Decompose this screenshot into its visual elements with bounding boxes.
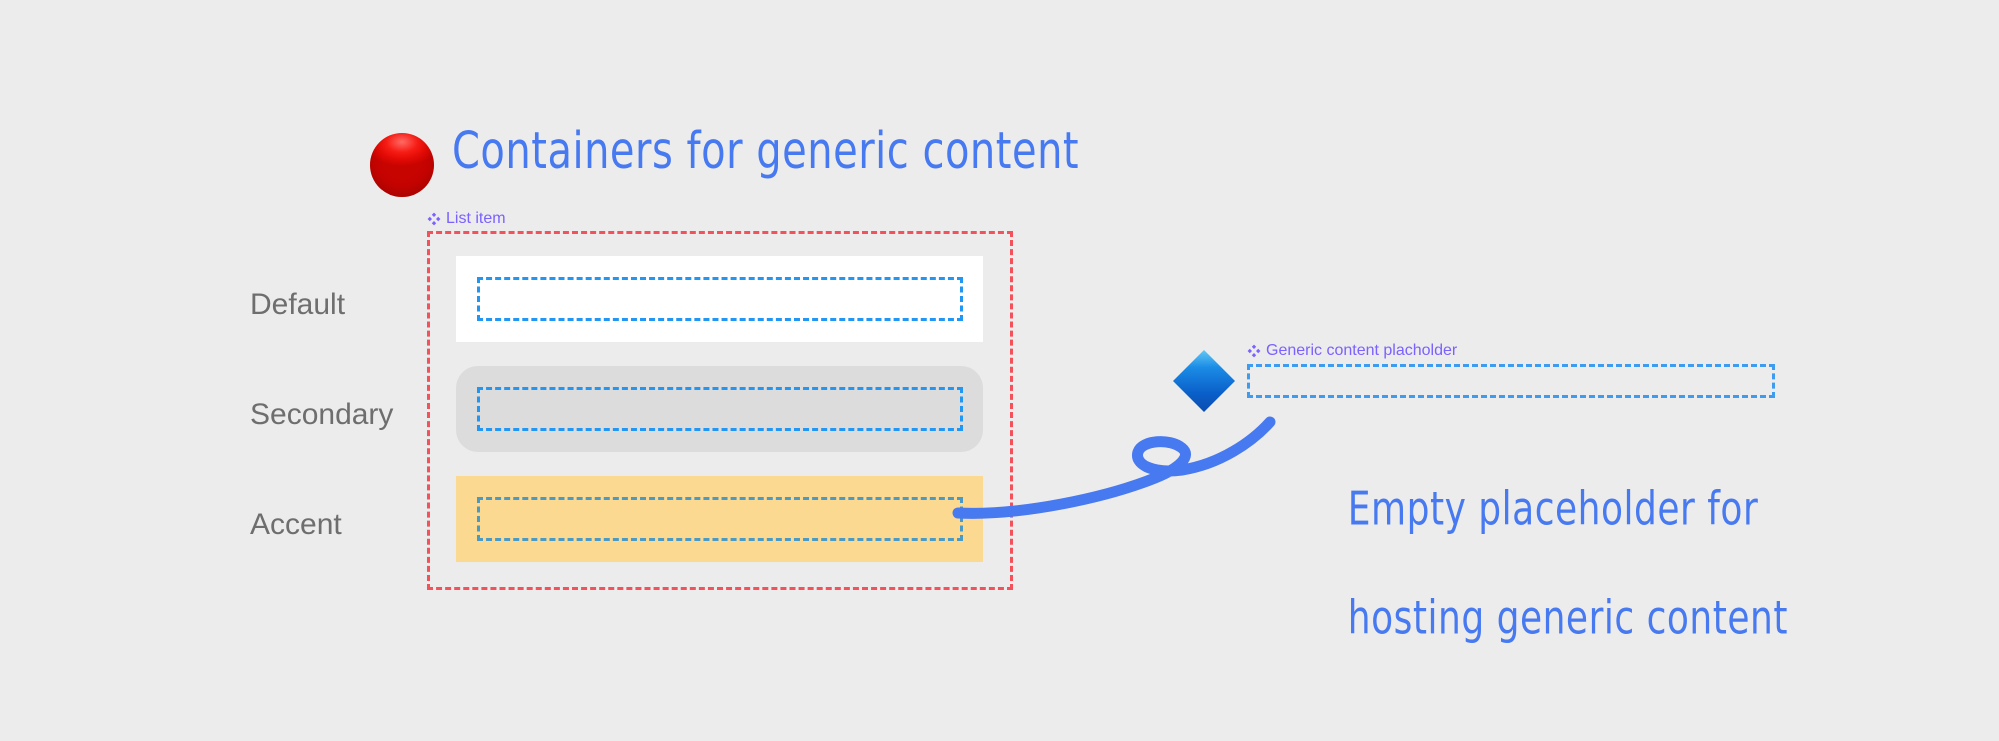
content-slot-default[interactable] xyxy=(477,277,963,321)
container-default[interactable] xyxy=(456,256,983,342)
row-label-secondary: Secondary xyxy=(250,398,393,432)
content-slot-accent[interactable] xyxy=(477,497,963,541)
spec-container-label-text: List item xyxy=(446,210,506,228)
generic-content-placeholder[interactable] xyxy=(1247,364,1775,398)
blue-diamond-icon xyxy=(1171,348,1237,414)
figma-component-icon xyxy=(1247,344,1261,358)
design-spec-canvas: Containers for generic content List item… xyxy=(0,0,1999,741)
row-label-default: Default xyxy=(250,288,345,322)
row-label-accent: Accent xyxy=(250,508,342,542)
generic-placeholder-label-text: Generic content placholder xyxy=(1266,342,1457,360)
placeholder-annotation-line1: Empty placeholder for xyxy=(1348,484,1758,536)
content-slot-secondary[interactable] xyxy=(477,387,963,431)
red-sphere-bullet-icon xyxy=(370,133,434,197)
generic-placeholder-label: Generic content placholder xyxy=(1247,342,1457,360)
headline-annotation: Containers for generic content xyxy=(452,122,1079,182)
placeholder-annotation-line2: hosting generic content xyxy=(1348,593,1788,645)
figma-component-icon xyxy=(427,212,441,226)
spec-container-label: List item xyxy=(427,210,506,228)
placeholder-annotation: Empty placeholder for hosting generic co… xyxy=(1300,430,1788,702)
container-accent[interactable] xyxy=(456,476,983,562)
container-secondary[interactable] xyxy=(456,366,983,452)
